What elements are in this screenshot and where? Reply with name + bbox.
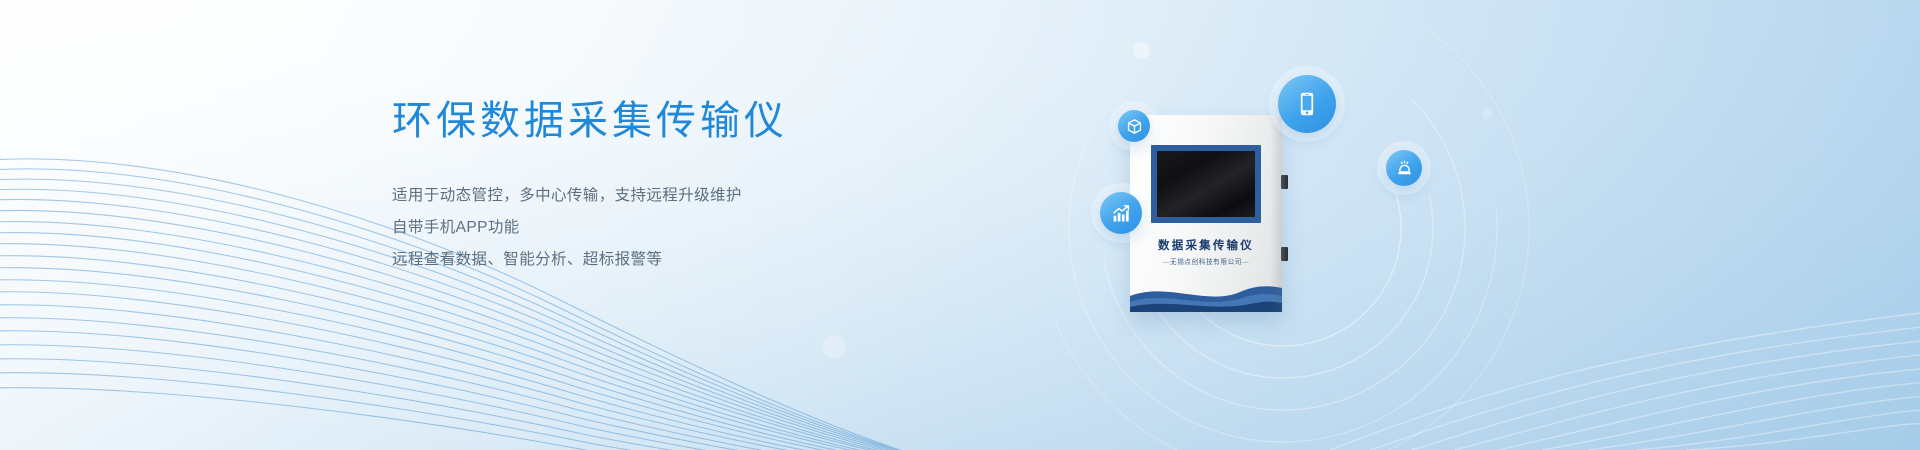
feature-item-3: 远程查看数据、智能分析、超标报警等 [392,244,1032,276]
feature-item-1: 适用于动态管控，多中心传输，支持远程升级维护 [392,180,1032,212]
decorative-dot-2 [822,335,846,359]
device-screen-bezel [1151,145,1261,223]
hero-copy: 环保数据采集传输仪 适用于动态管控，多中心传输，支持远程升级维护 自带手机APP… [392,96,1032,275]
badge-smartphone[interactable] [1278,75,1336,133]
product-stage: 数据采集传输仪 —无锡点创科技有限公司— [990,30,1590,430]
smartphone-icon [1294,91,1320,117]
badge-bar-chart[interactable] [1100,192,1142,234]
device-latch-bottom [1281,247,1288,261]
device-latch-top [1281,175,1288,189]
feature-item-2: 自带手机APP功能 [392,212,1032,244]
bar-chart-icon [1111,203,1132,224]
device-panel-title: 数据采集传输仪 [1130,237,1282,253]
hero-banner: 环保数据采集传输仪 适用于动态管控，多中心传输，支持远程升级维护 自带手机APP… [0,0,1920,450]
device-screen [1157,151,1255,217]
cube-icon [1126,118,1143,135]
device-edge-shading [1270,115,1282,312]
feature-list: 适用于动态管控，多中心传输，支持远程升级维护 自带手机APP功能 远程查看数据、… [392,180,1032,275]
device-company-name: —无锡点创科技有限公司— [1130,256,1282,266]
badge-cube[interactable] [1118,110,1150,142]
alarm-siren-icon [1395,159,1414,178]
product-device: 数据采集传输仪 —无锡点创科技有限公司— [1130,115,1282,312]
device-wave-graphic [1130,276,1282,312]
badge-alarm[interactable] [1386,150,1422,186]
page-title: 环保数据采集传输仪 [392,96,1032,146]
